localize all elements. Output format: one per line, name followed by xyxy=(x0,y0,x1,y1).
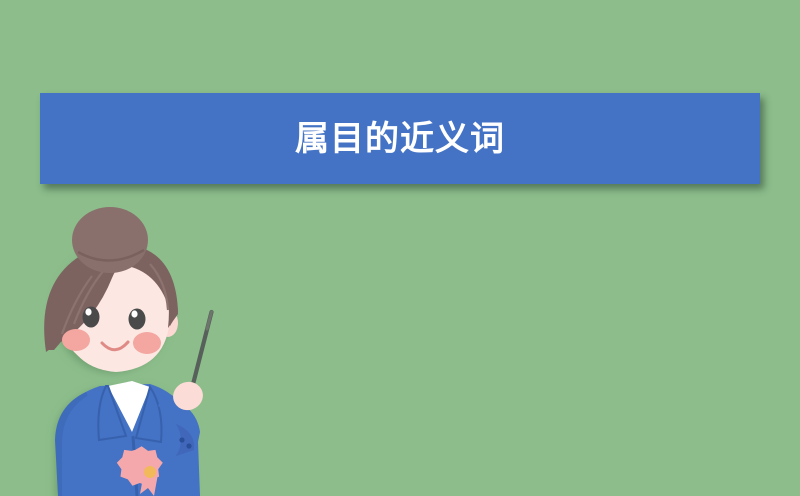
right-eye xyxy=(129,309,146,330)
sleeve-button-2 xyxy=(186,443,191,448)
sleeve-button-1 xyxy=(179,437,184,442)
hair-bun xyxy=(72,207,148,273)
title-banner: 属目的近义词 xyxy=(40,93,760,184)
right-blush xyxy=(133,332,161,354)
teacher-illustration xyxy=(0,200,300,496)
slide-canvas: 属目的近义词 xyxy=(0,0,800,496)
page-title: 属目的近义词 xyxy=(295,122,505,156)
left-blush xyxy=(62,329,90,351)
left-eye-highlight xyxy=(85,308,91,315)
right-eye-highlight xyxy=(131,310,137,317)
ribbon-center xyxy=(144,466,156,478)
left-eye xyxy=(83,307,100,328)
teacher-figure-svg xyxy=(0,200,300,496)
